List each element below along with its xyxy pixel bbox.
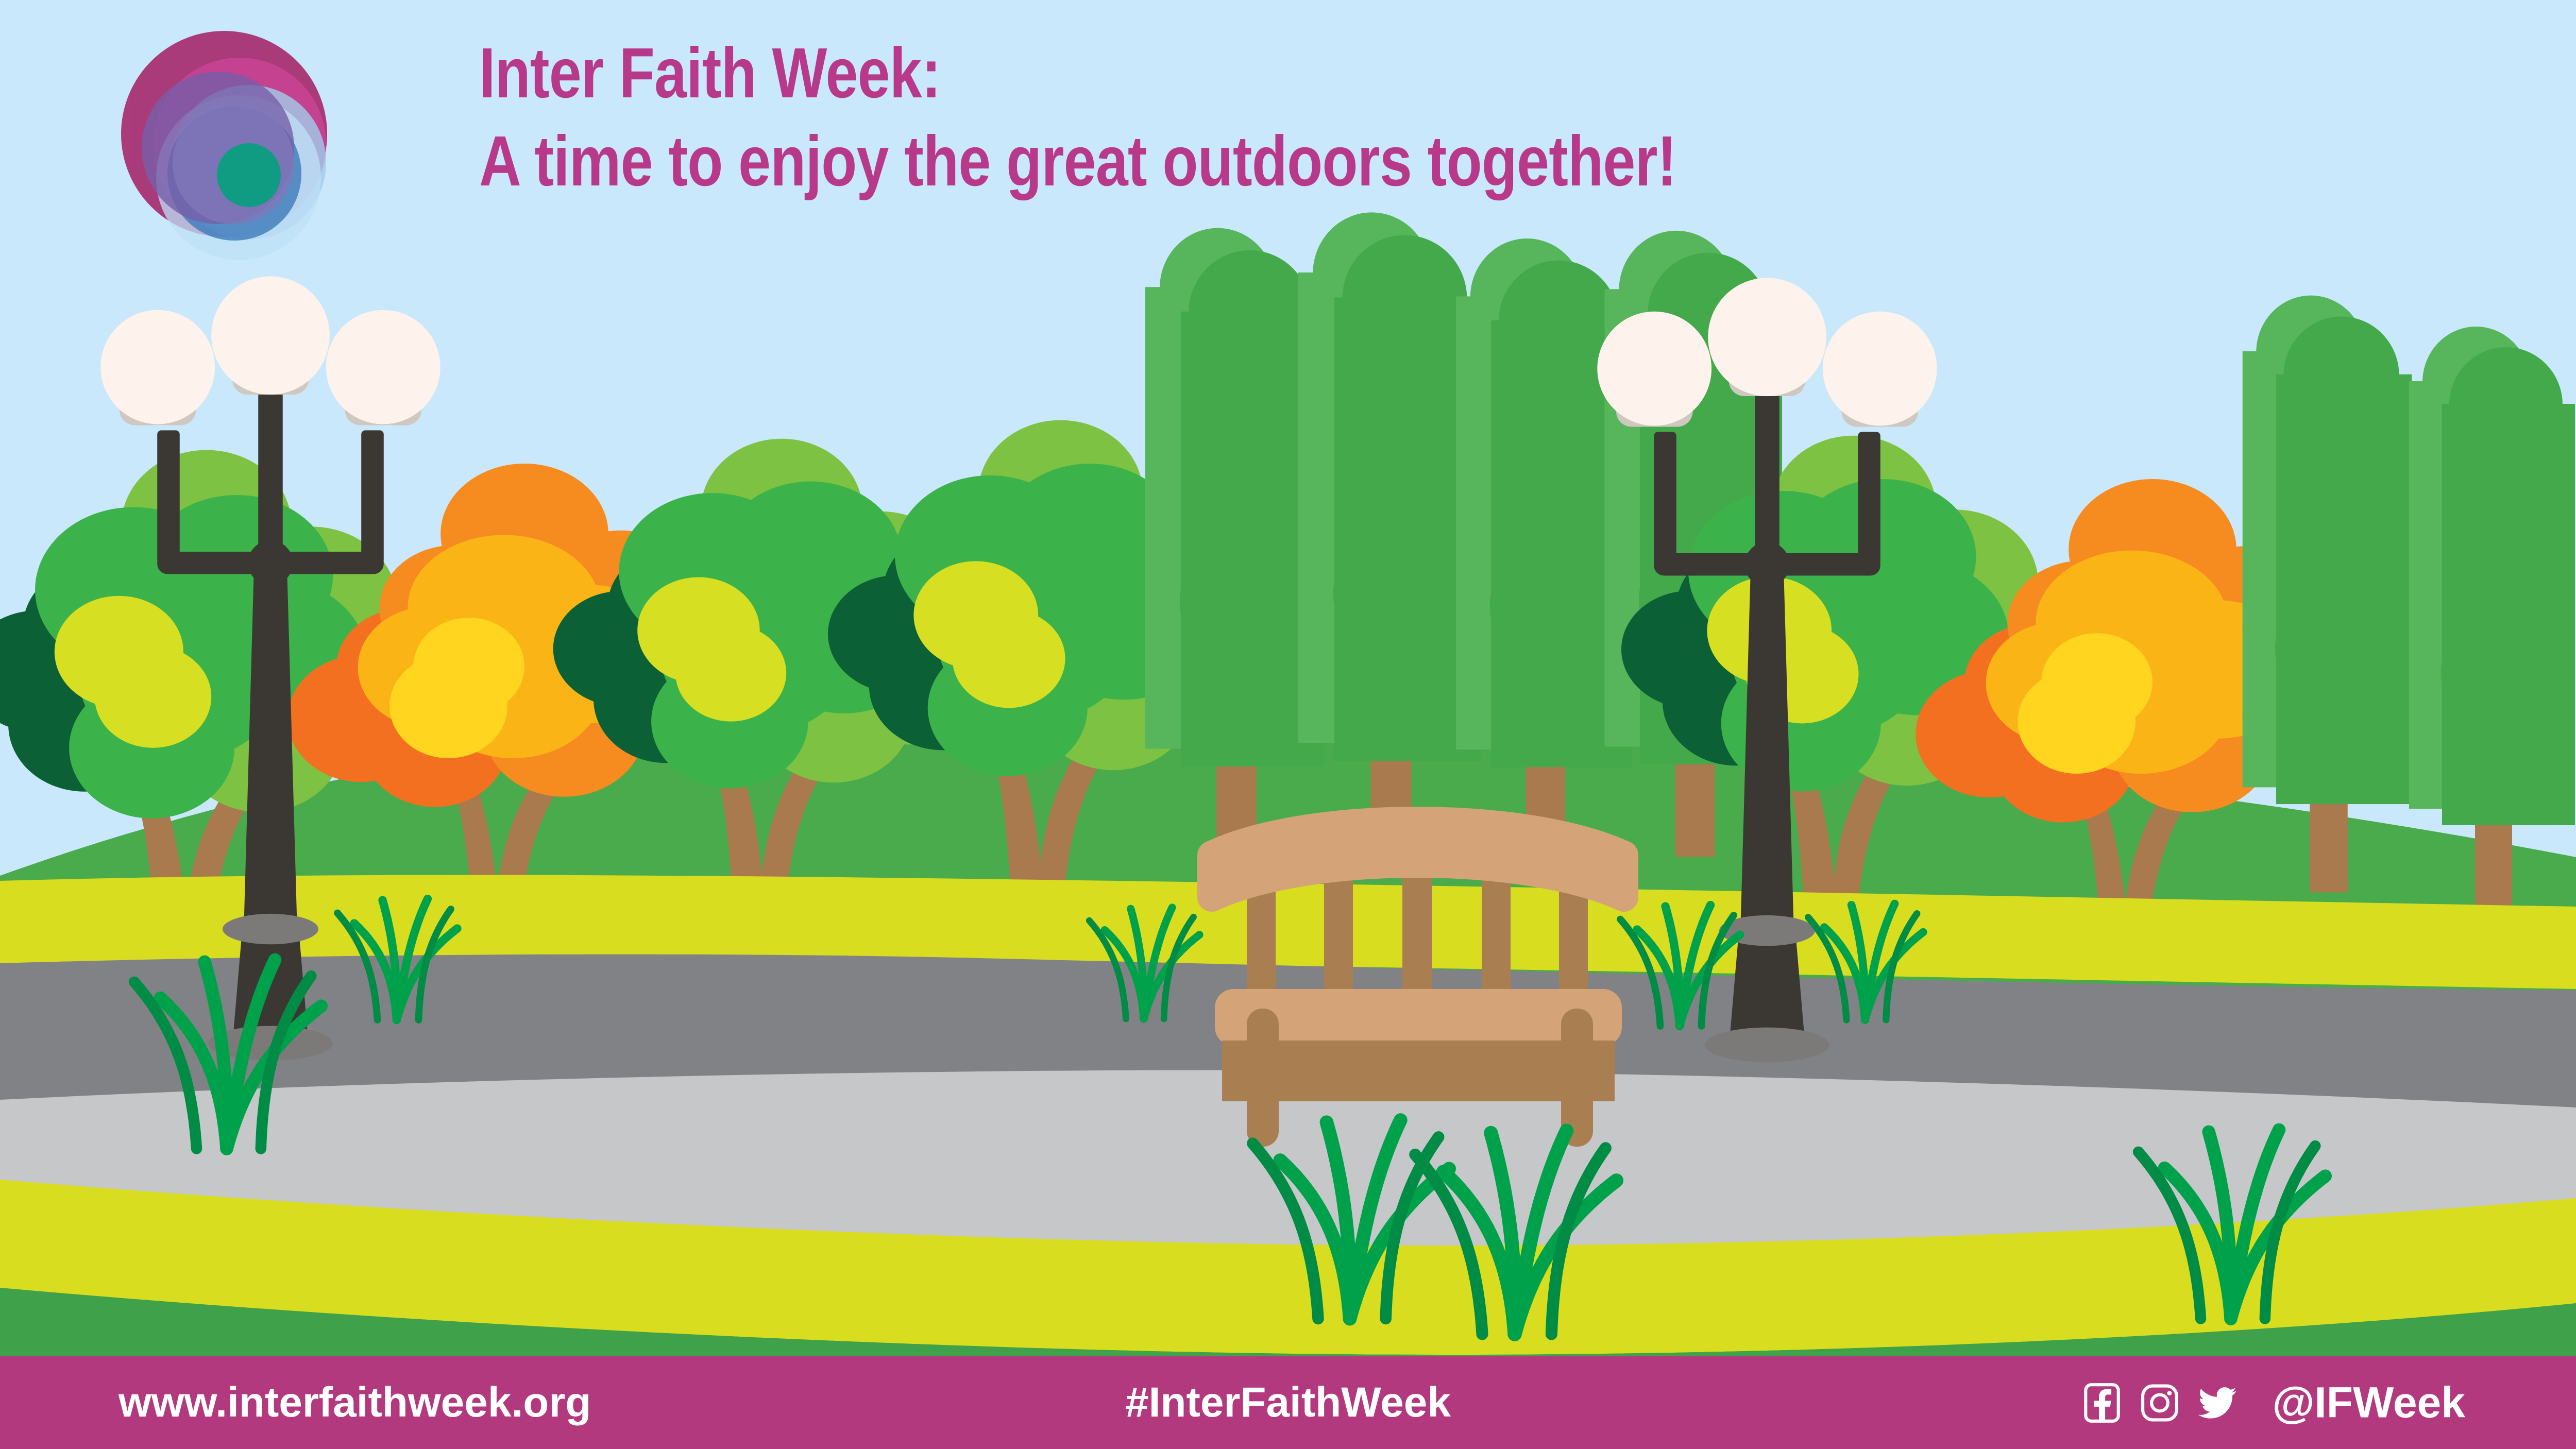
website-label: www.interfaithweek.org	[118, 1379, 591, 1426]
website-link[interactable]: www.interfaithweek.org	[118, 1378, 591, 1427]
facebook-icon[interactable]	[2082, 1383, 2122, 1423]
park-scene-illustration	[0, 0, 2576, 1449]
social-handle-label: @IFWeek	[2273, 1378, 2465, 1427]
hashtag-label: #InterFaithWeek	[1125, 1379, 1451, 1426]
bench-leg-left	[1247, 1009, 1279, 1147]
social-links: @IFWeek	[2082, 1378, 2465, 1428]
instagram-icon[interactable]	[2140, 1383, 2180, 1423]
park-bench	[1212, 821, 1624, 1147]
twitter-icon[interactable]	[2197, 1383, 2238, 1423]
bench-apron	[1222, 1041, 1615, 1101]
hashtag: #InterFaithWeek	[1125, 1378, 1451, 1427]
inter-faith-week-banner: Inter Faith Week: A time to enjoy the gr…	[0, 0, 2576, 1449]
social-handle[interactable]: @IFWeek	[2273, 1378, 2465, 1428]
banner-footer: www.interfaithweek.org #InterFaithWeek @…	[0, 1356, 2576, 1449]
